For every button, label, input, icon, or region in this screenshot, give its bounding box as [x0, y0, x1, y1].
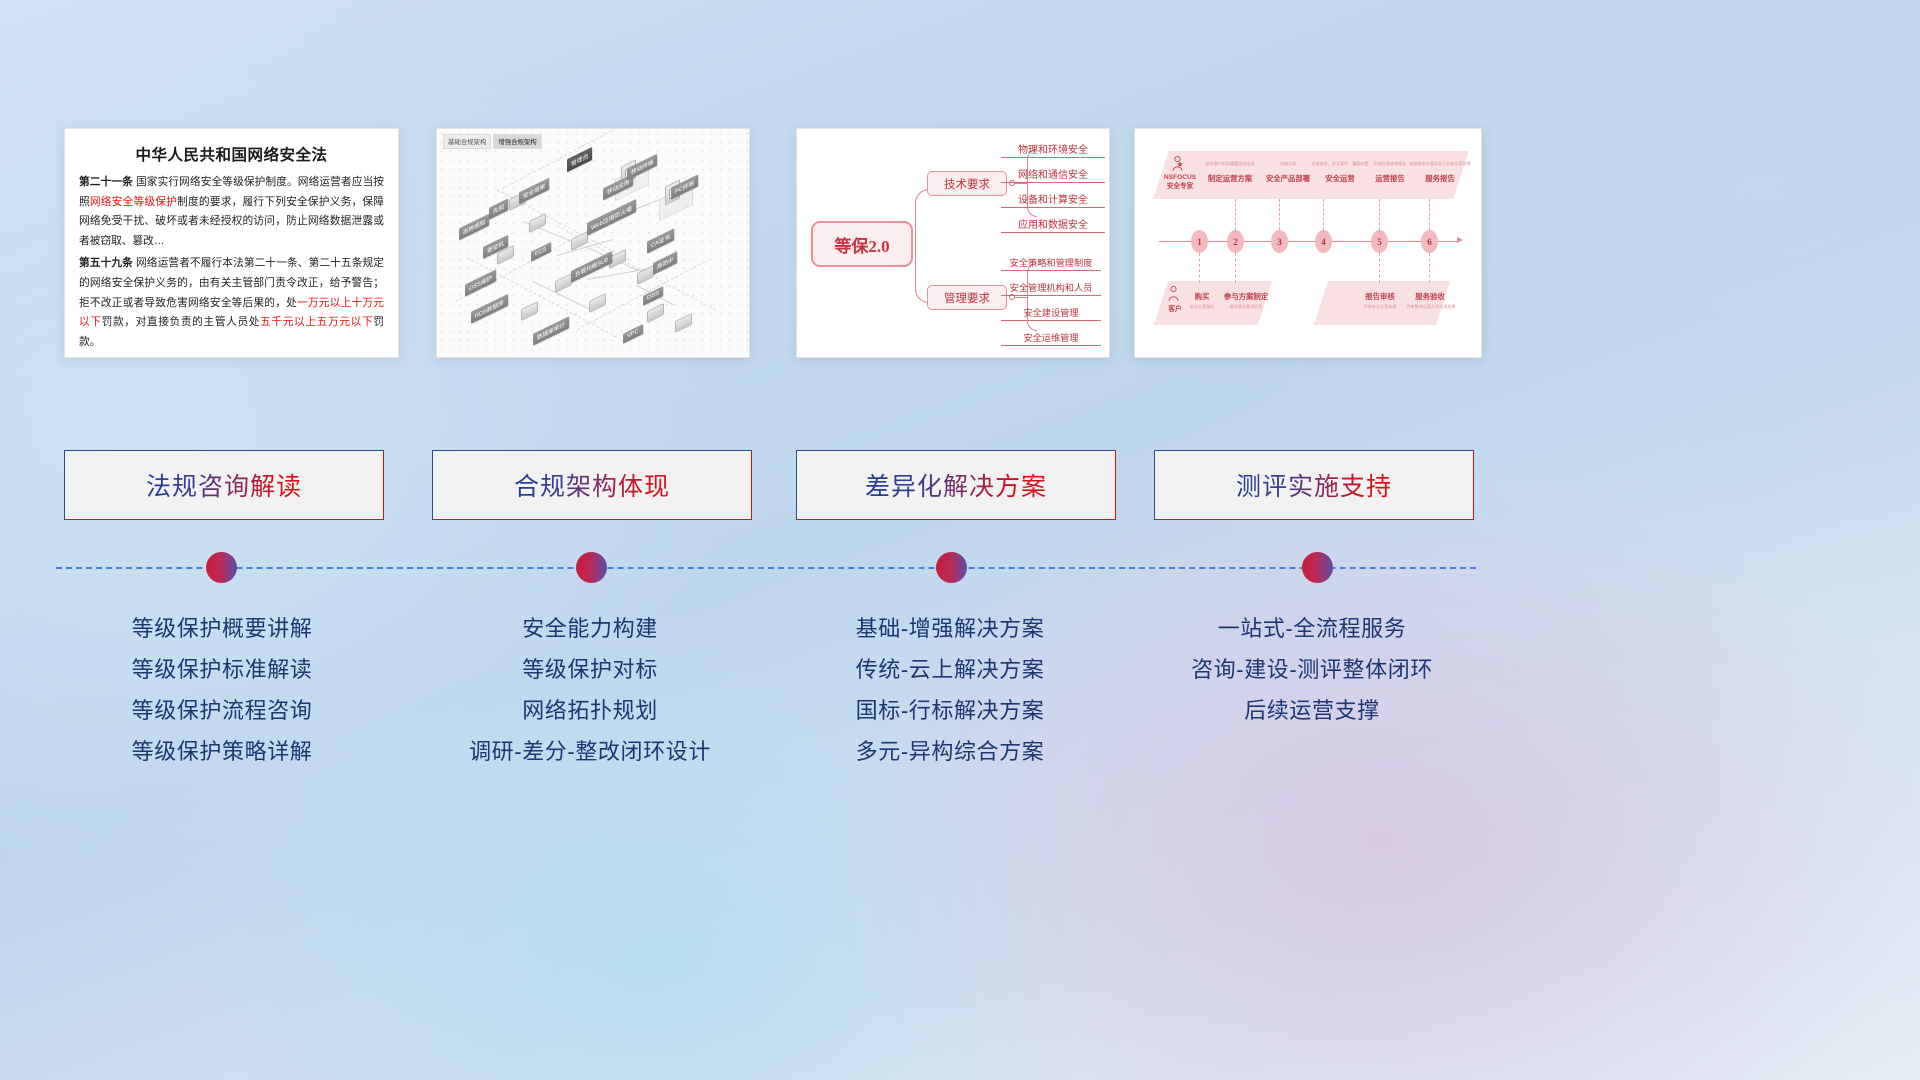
- list-item: 国标-行标解决方案: [780, 690, 1120, 731]
- pillar-title-box-3[interactable]: 差异化解决方案: [796, 450, 1116, 520]
- list-item: 等级保护流程咨询: [52, 690, 392, 731]
- pillar-title-label-4: 测评实施支持: [1236, 467, 1392, 503]
- list-item: 基础-增强解决方案: [780, 608, 1120, 649]
- timeline-dot-4[interactable]: [1302, 552, 1333, 583]
- list-item: 传统-云上解决方案: [780, 649, 1120, 690]
- list-item: 等级保护策略详解: [52, 731, 392, 772]
- timeline-dashed-line: [56, 567, 1476, 569]
- pillar-title-box-4[interactable]: 测评实施支持: [1154, 450, 1474, 520]
- timeline-dot-2[interactable]: [576, 552, 607, 583]
- list-item: 等级保护标准解读: [52, 649, 392, 690]
- timeline-dot-1[interactable]: [206, 552, 237, 583]
- pillar-title-box-2[interactable]: 合规架构体现: [432, 450, 752, 520]
- pillar-bullets-4: 一站式-全流程服务 咨询-建设-测评整体闭环 后续运营支撑: [1142, 608, 1482, 731]
- list-item: 网络拓扑规划: [420, 690, 760, 731]
- list-item: 安全能力构建: [420, 608, 760, 649]
- pillar-bullets-3: 基础-增强解决方案 传统-云上解决方案 国标-行标解决方案 多元-异构综合方案: [780, 608, 1120, 772]
- poster-stage: 中华人民共和国网络安全法 第二十一条 国家实行网络安全等级保护制度。网络运营者应…: [0, 0, 1920, 1080]
- list-item: 后续运营支撑: [1142, 690, 1482, 731]
- list-item: 调研-差分-整改闭环设计: [420, 731, 760, 772]
- pillar-title-box-1[interactable]: 法规咨询解读: [64, 450, 384, 520]
- architecture-tab-basic[interactable]: 基础合规架构: [443, 134, 491, 149]
- architecture-tabs: 基础合规架构 增强合规架构: [443, 134, 542, 149]
- list-item: 咨询-建设-测评整体闭环: [1142, 649, 1482, 690]
- pillar-title-label-1: 法规咨询解读: [146, 467, 302, 503]
- list-item: 一站式-全流程服务: [1142, 608, 1482, 649]
- list-item: 多元-异构综合方案: [780, 731, 1120, 772]
- pillar-titles-row: 法规咨询解读 合规架构体现 差异化解决方案 测评实施支持: [0, 0, 1920, 1080]
- timeline-dot-3[interactable]: [936, 552, 967, 583]
- list-item: 等级保护概要讲解: [52, 608, 392, 649]
- pillar-title-label-3: 差异化解决方案: [865, 467, 1047, 503]
- pillar-bullets-1: 等级保护概要讲解 等级保护标准解读 等级保护流程咨询 等级保护策略详解: [52, 608, 392, 772]
- list-item: 等级保护对标: [420, 649, 760, 690]
- pillar-title-label-2: 合规架构体现: [514, 467, 670, 503]
- architecture-tab-enhanced[interactable]: 增强合规架构: [493, 134, 541, 149]
- pillar-bullets-2: 安全能力构建 等级保护对标 网络拓扑规划 调研-差分-整改闭环设计: [420, 608, 760, 772]
